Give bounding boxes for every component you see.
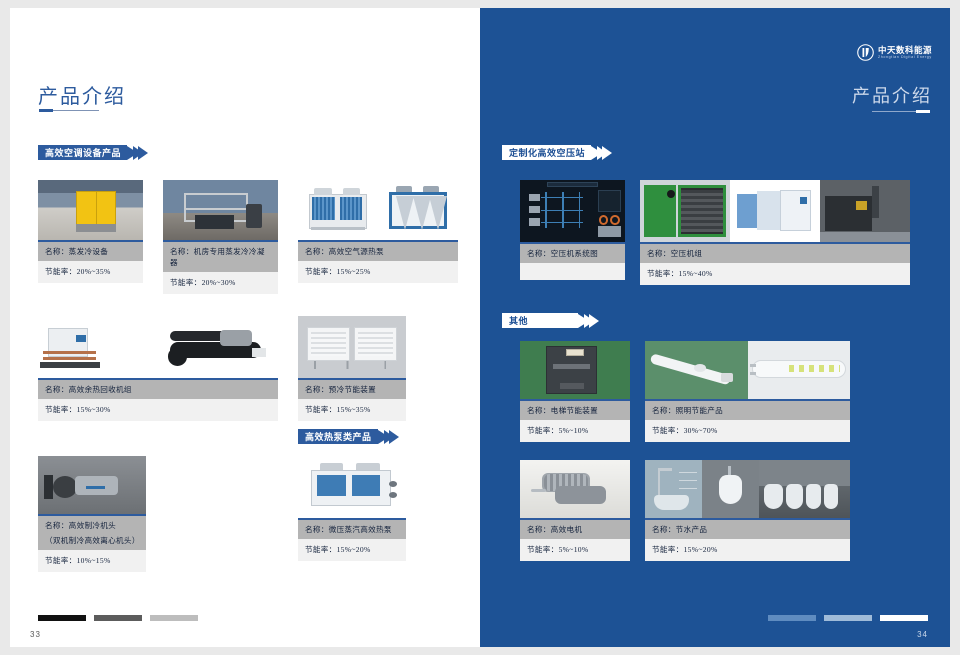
photo-heat-recovery-unit [38,316,158,378]
photo-urinal-row [759,460,850,518]
photo-green-compressor [640,180,730,242]
section-banner-heatpump: 高效热泵类产品 [298,429,399,444]
section-banner-heatpump-label: 高效热泵类产品 [298,429,378,444]
card-rate: 节能率：15%~25% [298,261,458,283]
photo-condenser-frame [163,180,278,240]
product-card-high-efficiency-motor[interactable]: 名称：高效电机 节能率：5%~10% [520,460,630,561]
chevron-right-icon [138,146,148,160]
photo-evaporative-cooling-room [38,180,143,240]
card-rate: 节能率：15%~35% [298,399,406,421]
photo-led-tube-green [645,341,748,399]
page-title-right: 产品介绍 [852,82,932,108]
product-card-micro-pressure-steam-heat-pump[interactable]: 名称：微压蒸汽高效热泵 节能率：15%~20% [298,456,406,561]
product-card-air-compressor-unit[interactable]: 名称：空压机组 节能率：15%~40% [640,180,910,285]
progress-bars-left [38,615,198,621]
card-rate: 节能率：5%~10% [520,539,630,561]
card-photos [520,460,630,518]
progress-bars-right [768,615,928,621]
brand-text: 中天数科能源 Zhongtian Digital Energy [878,46,932,60]
progress-bar-1 [38,615,86,621]
card-rate: 节能率：10%~15% [38,550,146,572]
card-name: 名称：电梯节能装置 [520,399,630,420]
photo-sink-water-saving [645,460,702,518]
progress-bar-3 [150,615,198,621]
card-photos [38,180,143,240]
card-name: 名称：微压蒸汽高效热泵 [298,518,406,539]
page-title-left: 产品介绍 [38,80,126,109]
page-title-left-rule [39,110,99,111]
card-photos [298,180,458,240]
product-card-waste-heat-recovery[interactable]: 名称：高效余热回收机组 节能率：15%~30% [38,316,278,421]
page-number-left: 33 [30,630,41,639]
section-banner-hvac-label: 高效空调设备产品 [38,145,127,160]
progress-bar-3 [880,615,928,621]
section-banner-hvac: 高效空调设备产品 [38,145,148,160]
photo-scada-system-diagram [520,180,625,242]
section-banner-others: 其他 [502,313,599,328]
progress-bar-2 [824,615,872,621]
chevron-right-icon [602,146,612,160]
photo-blue-compressor [730,180,820,242]
card-name: 名称：蒸发冷设备 [38,240,143,261]
photo-elevator-energy-saver [520,341,630,399]
card-rate: 节能率：15%~20% [298,539,406,561]
card-photos [520,180,625,242]
card-rate: 节能率：15%~30% [38,399,278,421]
brand-name-en: Zhongtian Digital Energy [878,56,932,60]
page-title-right-rule [872,111,930,112]
photo-urinal-single [702,460,759,518]
card-name: 名称：高效空气源热泵 [298,240,458,261]
card-photos [645,460,850,518]
photo-centrifugal-compressor [38,456,146,514]
section-banner-air-compressor-station: 定制化高效空压站 [502,145,612,160]
chevron-right-icon [389,430,399,444]
card-photos [163,180,278,240]
card-rate: 节能率：15%~40% [640,263,910,285]
card-photos [38,456,146,514]
card-name: 名称：预冷节能装置 [298,378,406,399]
card-name: 名称：高效电机 [520,518,630,539]
photo-chiller-unit [158,316,278,378]
card-photos [520,341,630,399]
card-name-sub: （双机制冷高效离心机头） [38,535,146,550]
brand-logo: 中天数科能源 Zhongtian Digital Energy [857,44,932,61]
card-rate: 节能率：15%~20% [645,539,850,561]
product-card-lighting-energy-saving[interactable]: 名称：照明节能产品 节能率：30%~70% [645,341,850,442]
photo-heat-pump-blue [378,180,458,240]
photo-heat-pump-grey [298,180,378,240]
product-card-air-source-heat-pump[interactable]: 名称：高效空气源热泵 节能率：15%~25% [298,180,458,283]
product-card-centrifugal-chiller-head[interactable]: 名称：高效制冷机头 （双机制冷高效离心机头） 节能率：10%~15% [38,456,146,572]
page-number-right: 34 [917,630,928,639]
brand-name-cn: 中天数科能源 [878,46,932,55]
card-rate: 节能率：20%~30% [163,272,278,294]
product-card-evaporative-cooling[interactable]: 名称：蒸发冷设备 节能率：20%~35% [38,180,143,283]
product-card-elevator-energy-saving[interactable]: 名称：电梯节能装置 节能率：5%~10% [520,341,630,442]
left-page: 产品介绍 高效空调设备产品 名称：蒸发冷设备 节能率：20%~35% 名称：机房… [10,8,480,647]
chevron-right-icon [589,314,599,328]
photo-steam-heat-pump [298,456,406,518]
product-card-compressor-system-diagram[interactable]: 名称：空压机系统图 [520,180,625,280]
card-name: 名称：照明节能产品 [645,399,850,420]
product-card-precooling-device[interactable]: 名称：预冷节能装置 节能率：15%~35% [298,316,406,421]
card-photos [298,456,406,518]
photo-precooling-device [298,316,406,378]
right-page: 中天数科能源 Zhongtian Digital Energy 产品介绍 定制化… [480,8,950,647]
progress-bar-1 [768,615,816,621]
card-rate: 节能率：5%~10% [520,420,630,442]
card-rate: 节能率：20%~35% [38,261,143,283]
card-rate [520,263,625,280]
section-banner-others-label: 其他 [502,313,578,328]
card-name: 名称：空压机组 [640,242,910,263]
card-name: 名称：节水产品 [645,518,850,539]
card-photos [38,316,278,378]
photo-led-tube-detail [748,341,851,399]
photo-high-efficiency-motor [520,460,630,518]
card-photos [645,341,850,399]
section-banner-air-compressor-station-label: 定制化高效空压站 [502,145,591,160]
product-card-water-saving-products[interactable]: 名称：节水产品 节能率：15%~20% [645,460,850,561]
card-name: 名称：机房专用蒸发冷冷凝器 [163,240,278,272]
progress-bar-2 [94,615,142,621]
card-photos [640,180,910,242]
card-name: 名称：高效制冷机头 [38,514,146,535]
product-card-machine-room-condenser[interactable]: 名称：机房专用蒸发冷冷凝器 节能率：20%~30% [163,180,278,294]
card-name: 名称：空压机系统图 [520,242,625,263]
card-rate: 节能率：30%~70% [645,420,850,442]
brochure-spread: 产品介绍 高效空调设备产品 名称：蒸发冷设备 节能率：20%~35% 名称：机房… [0,0,960,655]
card-photos [298,316,406,378]
photo-industrial-compressor-room [820,180,910,242]
card-name: 名称：高效余热回收机组 [38,378,278,399]
company-logo-icon [857,44,874,61]
